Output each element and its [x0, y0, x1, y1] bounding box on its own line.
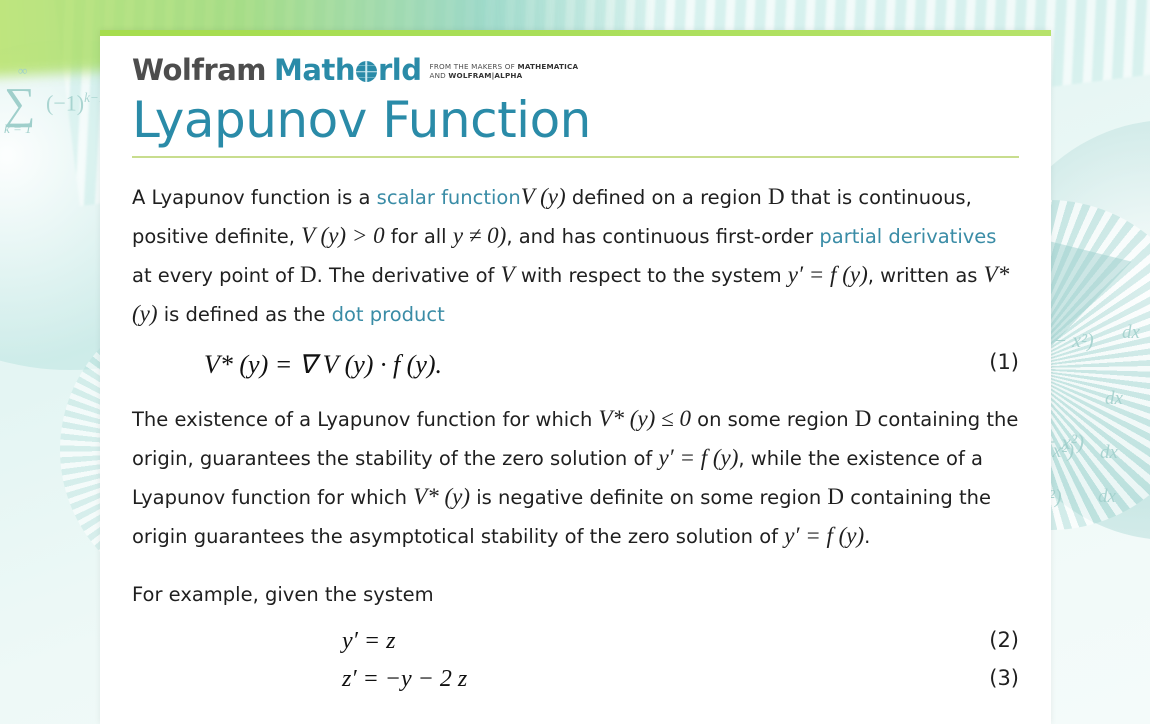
- tagline-line-2: and Wolfram|Alpha: [429, 71, 522, 80]
- math-system-2: y′ = f (y): [658, 445, 738, 470]
- site-logo[interactable]: Wolfram Mathrld From the makers of Mathe…: [132, 36, 1019, 85]
- link-partial-derivatives[interactable]: partial derivatives: [819, 225, 996, 248]
- tagline-line-1: From the makers of Mathematica: [429, 62, 578, 71]
- equation-row-3: z′ = −y − 2 z (3): [132, 666, 1019, 704]
- page-title: Lyapunov Function: [132, 93, 1019, 148]
- logo-world-text: rld: [378, 56, 422, 85]
- background-right-frag-dx-1: dx: [1122, 322, 1140, 344]
- equation-row-2: y′ = z (2): [132, 628, 1019, 666]
- math-d-2: D: [300, 262, 317, 287]
- existence-paragraph: The existence of a Lyapunov function for…: [132, 400, 1019, 556]
- logo-tagline: From the makers of Mathematica and Wolfr…: [429, 62, 578, 85]
- math-y-neq-zero: y ≠ 0): [453, 223, 507, 248]
- logo-wolfram-text: Wolfram: [132, 56, 266, 85]
- equation-1-number: (1): [989, 350, 1019, 374]
- logo-math-text: Math: [274, 56, 355, 85]
- example-paragraph: For example, given the system: [132, 576, 1019, 614]
- equation-row-1: V* (y) = ∇ V (y) · f (y). (1): [132, 350, 1019, 380]
- math-system-3: y′ = f (y): [784, 523, 864, 548]
- background-sum-lower: k = 1: [4, 122, 32, 135]
- background-right-frag-dx-3: dx: [1100, 442, 1118, 464]
- equation-1-body: V* (y) = ∇ V (y) · f (y).: [204, 350, 442, 380]
- equation-2-body: y′ = z: [342, 628, 395, 655]
- math-v-1: V: [501, 262, 515, 287]
- definition-paragraph: A Lyapunov function is a scalar function…: [132, 178, 1019, 334]
- equation-2-number: (2): [989, 628, 1019, 652]
- math-d-4: D: [827, 484, 844, 509]
- math-system-1: y′ = f (y): [788, 262, 868, 287]
- background-sigma-glyph: ∑: [4, 82, 35, 126]
- math-v-gt-zero: V (y) > 0: [301, 223, 384, 248]
- background-right-frag-dx-2: dx: [1105, 388, 1123, 410]
- math-v-of-y-1: V (y): [521, 184, 566, 209]
- link-scalar-function[interactable]: scalar function: [377, 186, 521, 209]
- globe-icon: [356, 61, 377, 82]
- background-right-frag-dx-4: dx: [1098, 486, 1116, 508]
- logo-mathworld-text: Mathrld: [274, 56, 421, 85]
- equation-3-number: (3): [989, 666, 1019, 690]
- link-dot-product[interactable]: dot product: [332, 303, 445, 326]
- background-sum-upper: ∞: [18, 64, 27, 77]
- math-d-3: D: [855, 406, 872, 431]
- math-d-1: D: [768, 184, 785, 209]
- title-underline-rule: [132, 156, 1019, 158]
- content-card: Wolfram Mathrld From the makers of Mathe…: [100, 30, 1051, 724]
- math-vstar-leq-zero: V* (y) ≤ 0: [599, 406, 691, 431]
- math-vstar-of-y-2: V* (y): [413, 484, 470, 509]
- background-sum-term: (−1)k−1: [46, 90, 105, 116]
- equation-3-body: z′ = −y − 2 z: [342, 666, 467, 693]
